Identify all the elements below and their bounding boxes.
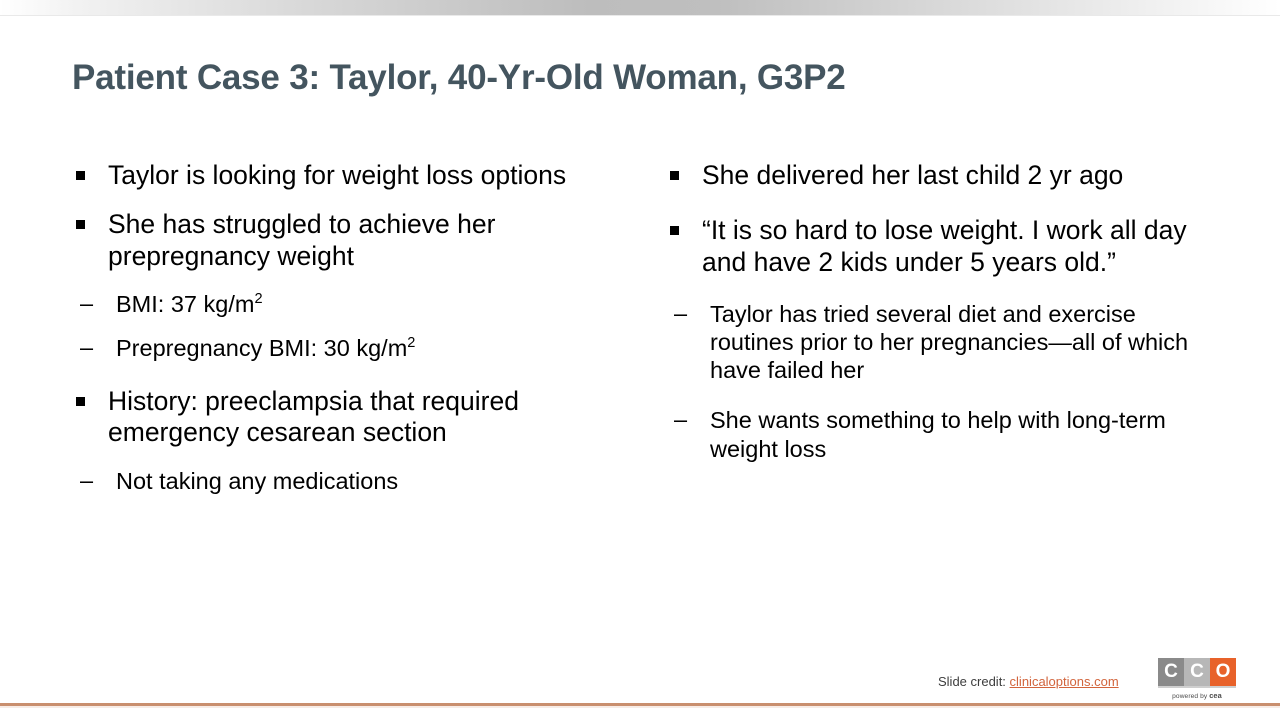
sub-bullet-item: – Prepregnancy BMI: 30 kg/m2 — [68, 334, 628, 362]
bullet-item: Taylor is looking for weight loss option… — [68, 160, 628, 191]
bullet-text: Taylor is looking for weight loss option… — [108, 160, 566, 190]
sub-bullet-superscript: 2 — [407, 335, 415, 351]
left-content-column: Taylor is looking for weight loss option… — [68, 160, 628, 511]
sub-bullet-text: Prepregnancy BMI: 30 kg/m — [116, 335, 407, 361]
square-bullet-icon — [76, 171, 85, 180]
dash-bullet-icon: – — [80, 466, 93, 494]
square-bullet-icon — [670, 171, 679, 180]
slide-credit: Slide credit: clinicaloptions.com — [938, 674, 1119, 689]
square-bullet-icon — [670, 226, 679, 235]
square-bullet-icon — [76, 397, 85, 406]
sub-bullet-item: – She wants something to help with long-… — [662, 406, 1222, 462]
page-title: Patient Case 3: Taylor, 40-Yr-Old Woman,… — [72, 58, 1222, 98]
bullet-item: “It is so hard to lose weight. I work al… — [662, 215, 1222, 278]
cco-logo-tagline: powered by cea — [1158, 688, 1236, 700]
bullet-item: History: preeclampsia that required emer… — [68, 386, 628, 449]
dash-bullet-icon: – — [674, 405, 687, 433]
cco-logo-letters: C C O — [1158, 658, 1236, 686]
right-content-column: She delivered her last child 2 yr ago “I… — [662, 160, 1222, 479]
sub-bullet-text: BMI: 37 kg/m — [116, 291, 254, 317]
bottom-accent-rule-soft — [0, 706, 1280, 708]
slide-canvas: Patient Case 3: Taylor, 40-Yr-Old Woman,… — [0, 0, 1280, 720]
cco-logo-letter-c1: C — [1158, 658, 1184, 686]
bullet-text: History: preeclampsia that required emer… — [108, 386, 519, 447]
dash-bullet-icon: – — [80, 289, 93, 317]
sub-bullet-item: – Taylor has tried several diet and exer… — [662, 300, 1222, 385]
dash-bullet-icon: – — [674, 299, 687, 327]
dash-bullet-icon: – — [80, 333, 93, 361]
clinicaloptions-link[interactable]: clinicaloptions.com — [1010, 674, 1119, 689]
bullet-text: She delivered her last child 2 yr ago — [702, 160, 1123, 190]
sub-bullet-item: – BMI: 37 kg/m2 — [68, 290, 628, 318]
bullet-item: She has struggled to achieve her prepreg… — [68, 209, 628, 272]
top-gradient-bar — [0, 0, 1280, 15]
sub-bullet-text: She wants something to help with long-te… — [710, 407, 1166, 461]
sub-bullet-text: Taylor has tried several diet and exerci… — [710, 301, 1188, 383]
sub-bullet-text: Not taking any medications — [116, 468, 398, 494]
cco-logo-letter-o: O — [1210, 658, 1236, 686]
bullet-text: “It is so hard to lose weight. I work al… — [702, 215, 1187, 276]
slide-credit-label: Slide credit: — [938, 674, 1010, 689]
cco-logo-tagline-brand: cea — [1209, 691, 1222, 700]
sub-bullet-item: – Not taking any medications — [68, 467, 628, 495]
bullet-text: She has struggled to achieve her prepreg… — [108, 209, 495, 270]
cco-logo: C C O powered by cea — [1158, 658, 1236, 700]
sub-bullet-superscript: 2 — [254, 291, 262, 307]
cco-logo-tagline-prefix: powered by — [1172, 693, 1209, 700]
square-bullet-icon — [76, 220, 85, 229]
cco-logo-letter-c2: C — [1184, 658, 1210, 686]
top-bar-edge-line — [0, 15, 1280, 16]
bullet-item: She delivered her last child 2 yr ago — [662, 160, 1222, 191]
